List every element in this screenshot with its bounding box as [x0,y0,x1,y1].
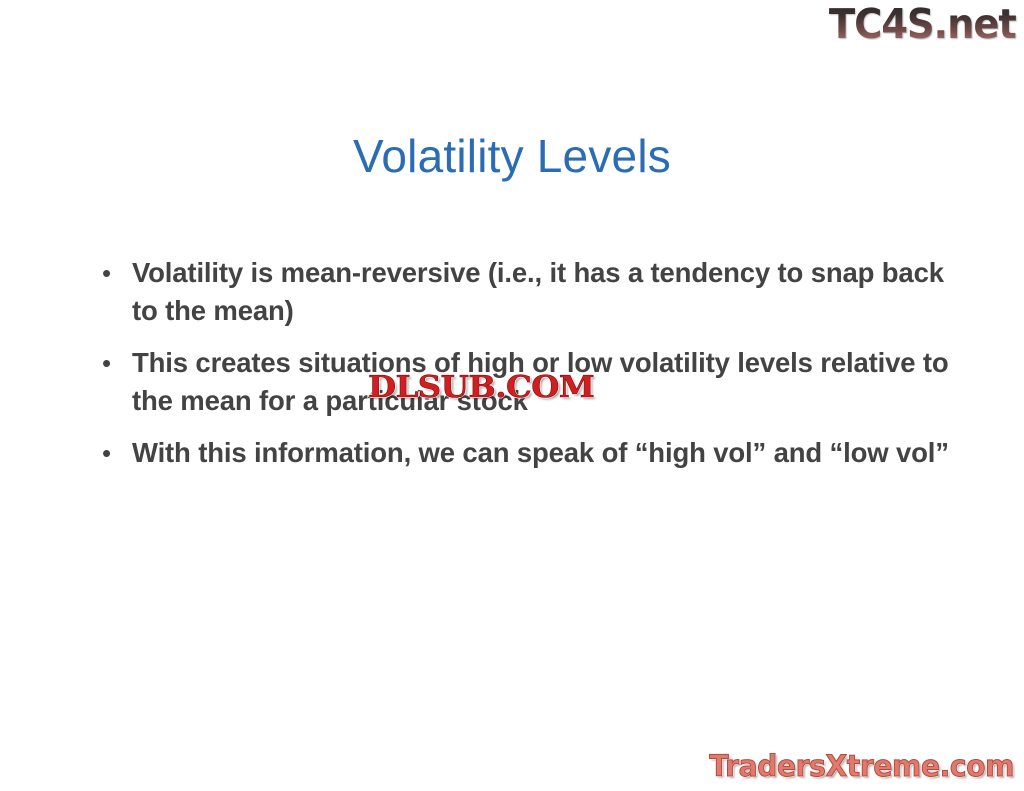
bullet-text: This creates situations of high or low v… [132,344,958,420]
list-item: • This creates situations of high or low… [98,344,958,420]
tradersxtreme-brand-logo: TradersXtreme.com [709,749,1014,783]
bullet-marker-icon: • [98,254,132,292]
bullet-text: Volatility is mean-reversive (i.e., it h… [132,254,958,330]
bullet-list: • Volatility is mean-reversive (i.e., it… [98,254,958,486]
tc4s-site-logo: TC4S.net [829,0,1016,48]
list-item: • Volatility is mean-reversive (i.e., it… [98,254,958,330]
slide-title: Volatility Levels [0,128,1024,184]
slide-canvas: TC4S.net Volatility Levels • Volatility … [0,0,1024,791]
bullet-text: With this information, we can speak of “… [132,434,958,472]
list-item: • With this information, we can speak of… [98,434,958,472]
bullet-marker-icon: • [98,344,132,382]
bullet-marker-icon: • [98,434,132,472]
